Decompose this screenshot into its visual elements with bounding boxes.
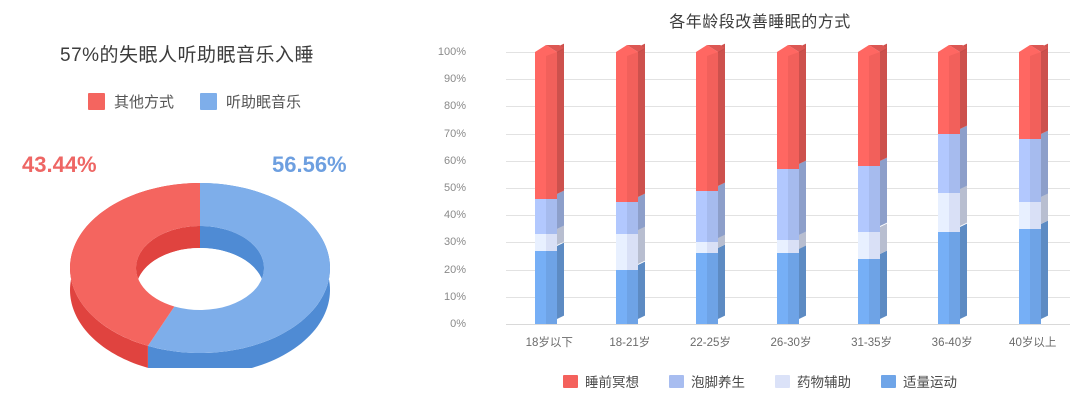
bar-face-right	[869, 259, 880, 324]
y-axis-tick-label: 60%	[420, 155, 466, 167]
bar-legend-label: 睡前冥想	[585, 371, 639, 391]
bar-segment-泡脚养生[interactable]	[696, 191, 718, 243]
bar-face-left	[777, 52, 788, 169]
donut-chart-panel: 57%的失眠人听助眠音乐入睡 其他方式 听助眠音乐 43.44% 56.56%	[0, 0, 440, 406]
y-axis-tick-label: 30%	[420, 236, 466, 248]
bar-face-right	[707, 242, 718, 253]
bar-column[interactable]	[696, 52, 726, 324]
y-axis-tick-label: 100%	[420, 46, 466, 58]
bar-face-left	[616, 202, 627, 235]
bar-face-left	[1019, 52, 1030, 139]
bar-face-left	[535, 199, 546, 234]
bar-top-cap	[858, 43, 880, 52]
bar-segment-药物辅助[interactable]	[696, 242, 718, 253]
bar-face-right	[1030, 229, 1041, 324]
bar-face-side	[880, 250, 887, 319]
bar-segment-睡前冥想[interactable]	[616, 52, 638, 202]
bar-face-right	[627, 234, 638, 269]
bar-face-side	[718, 44, 725, 186]
donut-legend: 其他方式 听助眠音乐	[88, 91, 301, 112]
y-axis-tick-label: 80%	[420, 100, 466, 112]
bar-face-right	[707, 253, 718, 324]
donut-chart-graphic	[55, 178, 345, 368]
bar-face-right	[546, 52, 557, 199]
bar-legend-label: 适量运动	[903, 371, 957, 391]
bar-segment-药物辅助[interactable]	[858, 232, 880, 259]
bar-column[interactable]	[535, 52, 565, 324]
donut-legend-label: 听助眠音乐	[226, 91, 301, 112]
bar-face-right	[788, 253, 799, 324]
y-axis-tick-label: 50%	[420, 182, 466, 194]
bar-face-side	[960, 223, 967, 319]
bar-chart-legend: 睡前冥想泡脚养生药物辅助适量运动	[440, 371, 1080, 391]
bar-top-cap	[696, 43, 718, 52]
bar-face-right	[707, 52, 718, 191]
bar-face-left	[696, 242, 707, 253]
bar-face-side	[718, 182, 725, 237]
bar-top-cap	[938, 43, 960, 52]
bar-segment-泡脚养生[interactable]	[616, 202, 638, 235]
bar-legend-label: 药物辅助	[797, 371, 851, 391]
bar-cap-shape	[616, 45, 646, 56]
donut-value-label-music: 56.56%	[272, 152, 347, 178]
bar-segment-泡脚养生[interactable]	[535, 199, 557, 234]
x-axis-tick-label: 22-25岁	[690, 334, 731, 350]
gridline	[506, 324, 1070, 325]
bar-legend-item-适量运动[interactable]: 适量运动	[881, 371, 957, 391]
bar-cap-shape	[858, 45, 888, 56]
bar-face-left	[696, 253, 707, 324]
legend-swatch-icon	[775, 375, 790, 388]
bar-top-cap	[535, 43, 557, 52]
bar-face-side	[960, 44, 967, 129]
bar-face-right	[627, 52, 638, 202]
bar-face-left	[535, 251, 546, 324]
bar-face-right	[788, 52, 799, 169]
bar-segment-适量运动[interactable]	[535, 251, 557, 324]
bar-segment-睡前冥想[interactable]	[535, 52, 557, 199]
bar-column[interactable]	[777, 52, 807, 324]
bar-face-right	[707, 191, 718, 243]
bar-segment-适量运动[interactable]	[938, 232, 960, 324]
infographic-root: 57%的失眠人听助眠音乐入睡 其他方式 听助眠音乐 43.44% 56.56%	[0, 0, 1080, 406]
bar-segment-睡前冥想[interactable]	[1019, 52, 1041, 139]
bar-segment-睡前冥想[interactable]	[858, 52, 880, 166]
bar-face-left	[616, 52, 627, 202]
bar-face-right	[949, 232, 960, 324]
bar-face-side	[718, 245, 725, 319]
bar-face-left	[777, 253, 788, 324]
plot-area	[506, 52, 1070, 324]
bar-face-left	[535, 234, 546, 250]
x-axis-tick-label: 18岁以下	[526, 334, 573, 350]
bar-chart-plot-wrapper: 0%10%20%30%40%50%60%70%80%90%100% 18岁以下1…	[450, 52, 1070, 324]
bar-face-right	[949, 52, 960, 134]
bar-face-left	[858, 259, 869, 324]
bar-segment-药物辅助[interactable]	[777, 240, 799, 254]
bar-face-left	[616, 234, 627, 269]
bar-face-left	[616, 270, 627, 324]
bar-face-left	[938, 134, 949, 194]
bar-face-left	[696, 191, 707, 243]
bar-face-right	[949, 134, 960, 194]
bar-face-left	[938, 193, 949, 231]
bar-face-right	[949, 193, 960, 231]
bar-face-right	[627, 270, 638, 324]
bar-segment-适量运动[interactable]	[696, 253, 718, 324]
bar-face-side	[1041, 131, 1048, 197]
y-axis-tick-label: 10%	[420, 291, 466, 303]
bar-cap-shape	[696, 45, 726, 56]
bar-column[interactable]	[938, 52, 968, 324]
bar-face-side	[799, 161, 806, 235]
bar-face-left	[777, 169, 788, 240]
bar-face-right	[869, 52, 880, 166]
bar-segment-适量运动[interactable]	[1019, 229, 1041, 324]
bar-chart-panel: 各年龄段改善睡眠的方式 0%10%20%30%40%50%60%70%80%90…	[440, 0, 1080, 406]
bar-face-left	[858, 232, 869, 259]
bar-segment-睡前冥想[interactable]	[696, 52, 718, 191]
bar-cap-shape	[938, 45, 968, 56]
y-axis-tick-label: 0%	[420, 318, 466, 330]
bar-face-left	[1019, 139, 1030, 202]
bar-face-left	[535, 52, 546, 199]
y-axis-tick-label: 70%	[420, 128, 466, 140]
donut-svg	[55, 178, 345, 368]
bar-face-side	[880, 158, 887, 227]
bar-face-right	[788, 240, 799, 254]
y-axis-tick-label: 40%	[420, 209, 466, 221]
bar-top-cap	[777, 43, 799, 52]
bar-face-left	[938, 52, 949, 134]
bar-segment-药物辅助[interactable]	[535, 234, 557, 250]
bar-face-right	[1030, 139, 1041, 202]
bar-face-right	[546, 251, 557, 324]
bar-face-right	[869, 166, 880, 231]
bar-segment-泡脚养生[interactable]	[1019, 139, 1041, 202]
bar-face-side	[1041, 220, 1048, 319]
bar-segment-睡前冥想[interactable]	[777, 52, 799, 169]
bar-cap-shape	[535, 45, 565, 56]
bar-face-left	[858, 166, 869, 231]
bar-segment-药物辅助[interactable]	[1019, 202, 1041, 229]
bar-face-left	[1019, 229, 1030, 324]
x-axis-tick-label: 31-35岁	[851, 334, 892, 350]
bar-legend-item-泡脚养生[interactable]: 泡脚养生	[669, 371, 745, 391]
y-axis-tick-label: 20%	[420, 264, 466, 276]
bar-face-side	[960, 185, 967, 226]
bar-cap-shape	[1019, 45, 1049, 56]
bar-face-side	[638, 226, 645, 265]
legend-swatch-icon	[200, 93, 217, 110]
bar-face-right	[546, 199, 557, 234]
legend-swatch-icon	[563, 375, 578, 388]
donut-legend-item-other[interactable]: 其他方式	[88, 91, 174, 112]
bar-face-right	[869, 232, 880, 259]
donut-value-label-other: 43.44%	[22, 152, 97, 178]
bar-face-left	[696, 52, 707, 191]
bar-column[interactable]	[1019, 52, 1049, 324]
bar-cap-shape	[777, 45, 807, 56]
bar-face-right	[1030, 202, 1041, 229]
bar-face-side	[799, 245, 806, 319]
bar-segment-药物辅助[interactable]	[616, 234, 638, 269]
donut-legend-label: 其他方式	[114, 91, 174, 112]
bar-face-side	[557, 242, 564, 319]
x-axis-tick-label: 26-30岁	[771, 334, 812, 350]
bar-segment-适量运动[interactable]	[777, 253, 799, 324]
bar-face-side	[880, 44, 887, 162]
bar-face-side	[638, 261, 645, 319]
bar-face-left	[1019, 202, 1030, 229]
bar-face-left	[938, 232, 949, 324]
donut-legend-item-music[interactable]: 听助眠音乐	[200, 91, 301, 112]
bar-face-side	[799, 44, 806, 164]
bar-segment-泡脚养生[interactable]	[938, 134, 960, 194]
bar-face-side	[638, 193, 645, 229]
bar-face-side	[557, 190, 564, 229]
donut-chart-title: 57%的失眠人听助眠音乐入睡	[60, 40, 314, 67]
bar-chart-title: 各年龄段改善睡眠的方式	[440, 8, 1080, 32]
bar-face-right	[788, 169, 799, 240]
legend-swatch-icon	[881, 375, 896, 388]
bar-face-left	[858, 52, 869, 166]
x-axis-tick-label: 36-40岁	[932, 334, 973, 350]
bar-face-right	[1030, 52, 1041, 139]
bar-face-left	[777, 240, 788, 254]
bar-face-side	[960, 125, 967, 188]
x-axis-tick-label: 40岁以上	[1009, 334, 1056, 350]
bar-legend-item-药物辅助[interactable]: 药物辅助	[775, 371, 851, 391]
bar-face-side	[1041, 193, 1048, 224]
y-axis-tick-label: 90%	[420, 73, 466, 85]
bar-face-side	[1041, 44, 1048, 134]
bar-column[interactable]	[858, 52, 888, 324]
bar-segment-泡脚养生[interactable]	[858, 166, 880, 231]
bar-face-right	[627, 202, 638, 235]
bar-column[interactable]	[616, 52, 646, 324]
bar-segment-适量运动[interactable]	[858, 259, 880, 324]
bar-segment-适量运动[interactable]	[616, 270, 638, 324]
bar-face-side	[638, 44, 645, 197]
bar-legend-label: 泡脚养生	[691, 371, 745, 391]
bar-segment-泡脚养生[interactable]	[777, 169, 799, 240]
bar-legend-item-睡前冥想[interactable]: 睡前冥想	[563, 371, 639, 391]
x-axis-tick-label: 18-21岁	[609, 334, 650, 350]
bar-face-right	[546, 234, 557, 250]
legend-swatch-icon	[669, 375, 684, 388]
bar-face-side	[557, 44, 564, 194]
bar-top-cap	[1019, 43, 1041, 52]
legend-swatch-icon	[88, 93, 105, 110]
bar-segment-药物辅助[interactable]	[938, 193, 960, 231]
bar-face-side	[880, 223, 887, 254]
bar-segment-睡前冥想[interactable]	[938, 52, 960, 134]
bar-top-cap	[616, 43, 638, 52]
